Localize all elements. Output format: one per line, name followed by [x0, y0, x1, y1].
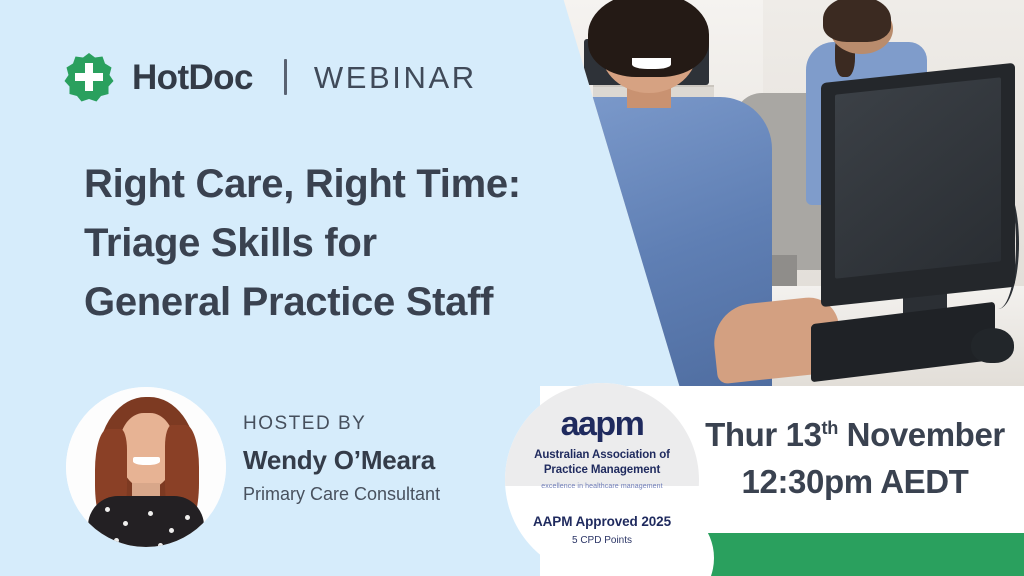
foreground-staff-smile	[632, 58, 671, 70]
brand-header: HotDoc WEBINAR	[64, 52, 477, 102]
badge-content: aapm Australian Association of Practice …	[505, 383, 699, 576]
clinic-scene	[540, 0, 1024, 386]
computer-mouse	[971, 328, 1015, 363]
monitor-screen	[834, 78, 1001, 279]
host-role: Primary Care Consultant	[243, 484, 523, 506]
background-colleague-hair	[823, 0, 891, 42]
portrait-scene	[66, 387, 226, 547]
hero-photo	[540, 0, 1024, 386]
aapm-association-name: Australian Association of Practice Manag…	[534, 448, 670, 477]
headline-line-2: Triage Skills for	[84, 214, 554, 273]
aapm-association-line-1: Australian Association of	[534, 448, 670, 463]
page-title: Right Care, Right Time: Triage Skills fo…	[84, 155, 554, 333]
headline-line-3: General Practice Staff	[84, 273, 554, 332]
webinar-promo-canvas: HotDoc WEBINAR Right Care, Right Time: T…	[0, 0, 1024, 576]
hotdoc-cross-rosette-icon	[64, 52, 114, 102]
host-blouse	[88, 496, 203, 547]
aapm-approved-label: AAPM Approved 2025	[533, 514, 671, 529]
headline-line-1: Right Care, Right Time:	[84, 155, 554, 214]
aapm-wordmark: aapm	[561, 407, 644, 441]
header-divider	[284, 59, 287, 95]
hosted-by-label: HOSTED BY	[243, 413, 523, 436]
section-label: WEBINAR	[314, 62, 477, 93]
host-name: Wendy O’Meara	[243, 445, 523, 476]
aapm-association-line-2: Practice Management	[534, 463, 670, 478]
event-date: Thur 13th November	[690, 412, 1020, 459]
aapm-tagline: excellence in healthcare management	[541, 483, 662, 490]
event-time: 12:30pm AEDT	[690, 459, 1020, 506]
brand-name: HotDoc	[132, 60, 253, 95]
event-date-prefix: Thur 13	[705, 416, 821, 453]
host-details: HOSTED BY Wendy O’Meara Primary Care Con…	[243, 413, 523, 506]
avatar	[66, 387, 226, 547]
event-datetime: Thur 13th November 12:30pm AEDT	[690, 412, 1020, 506]
computer-monitor	[821, 63, 1015, 307]
aapm-cpd-points: 5 CPD Points	[572, 535, 632, 546]
status-badge: aapm Australian Association of Practice …	[505, 383, 699, 576]
event-date-suffix: November	[838, 416, 1005, 453]
event-date-ordinal: th	[822, 418, 838, 438]
